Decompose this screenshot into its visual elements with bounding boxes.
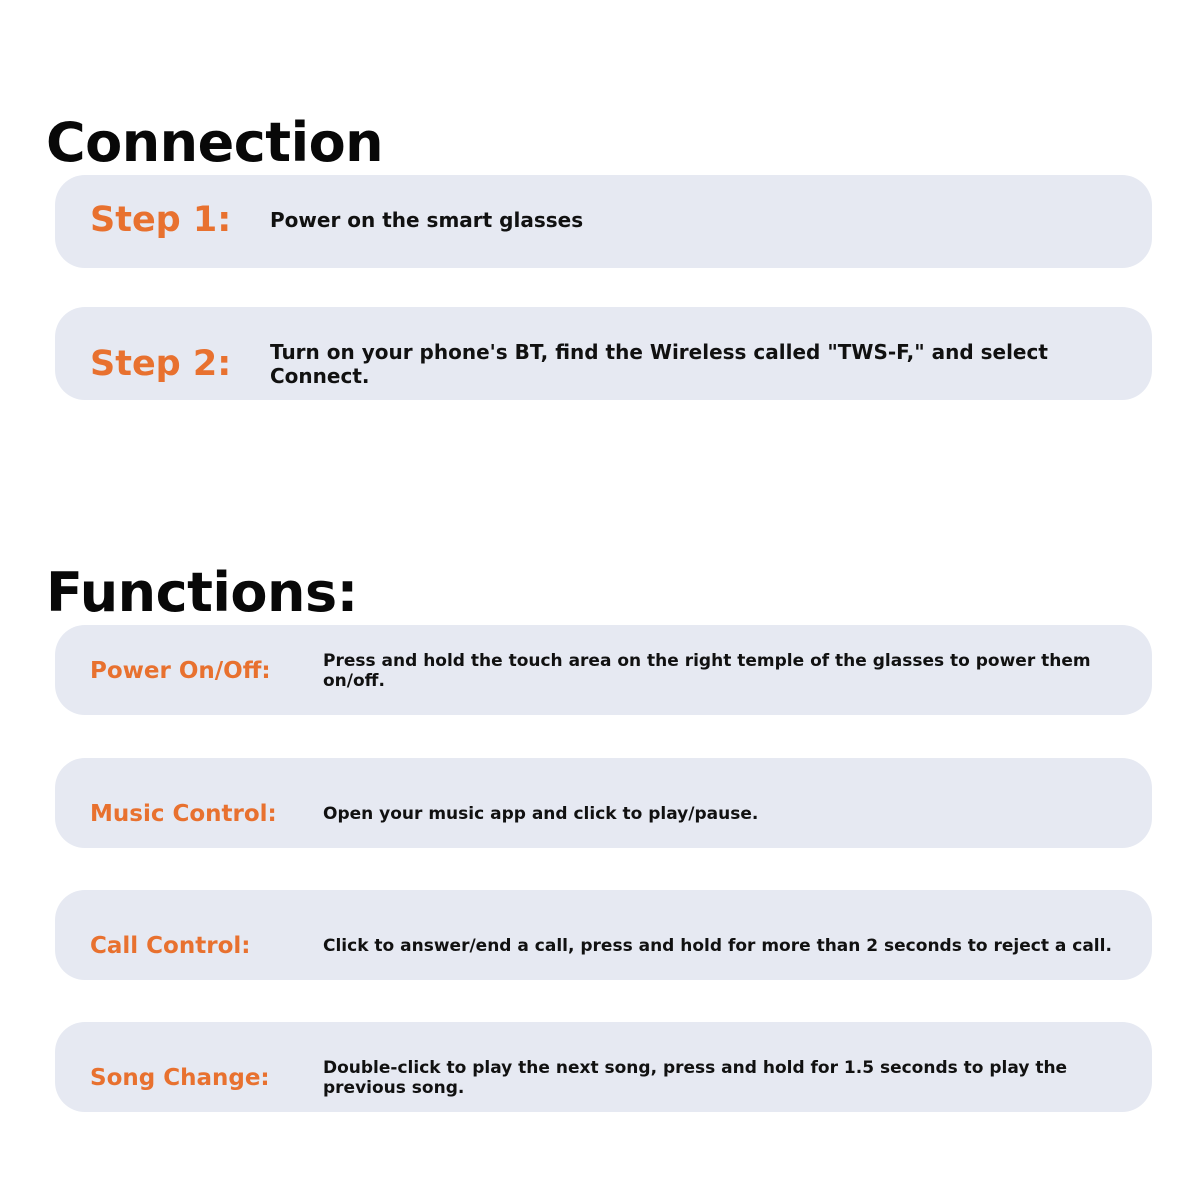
step-1-label: Step 1: [90, 200, 270, 240]
function-label-power-on-off: Power On/Off: [90, 658, 323, 684]
function-description-call-control: Click to answer/end a call, press and ho… [323, 936, 1152, 956]
instruction-page: Connection Step 1: Power on the smart gl… [0, 0, 1200, 1200]
function-description-power-on-off: Press and hold the touch area on the rig… [323, 651, 1152, 691]
function-description-music-control: Open your music app and click to play/pa… [323, 804, 1152, 824]
function-card-power-on-off: Power On/Off: Press and hold the touch a… [55, 625, 1152, 715]
functions-section-heading: Functions: [46, 566, 358, 620]
function-label-music-control: Music Control: [90, 801, 323, 827]
step-card-1: Step 1: Power on the smart glasses [55, 175, 1152, 268]
connection-section-heading: Connection [46, 116, 383, 170]
function-card-call-control: Call Control: Click to answer/end a call… [55, 890, 1152, 980]
function-label-song-change: Song Change: [90, 1065, 323, 1091]
step-1-description: Power on the smart glasses [270, 208, 1152, 232]
function-description-song-change: Double-click to play the next song, pres… [323, 1058, 1152, 1098]
function-label-call-control: Call Control: [90, 933, 323, 959]
step-2-label: Step 2: [90, 344, 270, 384]
function-card-music-control: Music Control: Open your music app and c… [55, 758, 1152, 848]
function-card-song-change: Song Change: Double-click to play the ne… [55, 1022, 1152, 1112]
step-2-description: Turn on your phone's BT, find the Wirele… [270, 340, 1152, 388]
step-card-2: Step 2: Turn on your phone's BT, find th… [55, 307, 1152, 400]
